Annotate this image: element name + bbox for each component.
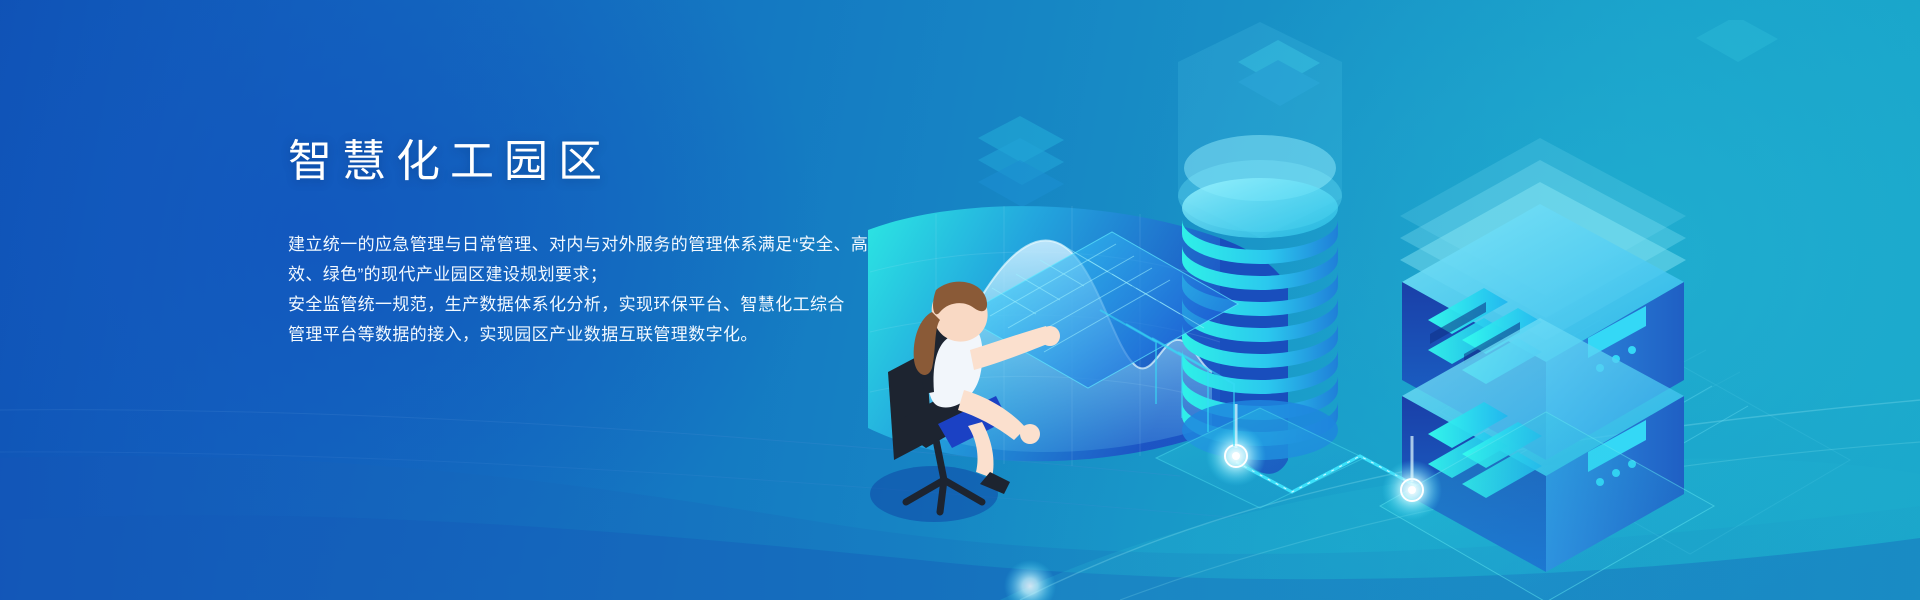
server-rack-building: [1380, 138, 1714, 600]
operator-hand: [1040, 326, 1060, 346]
floating-layer-chips: [978, 116, 1064, 207]
description-line: 安全监管统一规范，生产数据体系化分析，实现环保平台、智慧化工综合: [288, 290, 928, 320]
hero-banner: 智慧化工园区 建立统一的应急管理与日常管理、对内与对外服务的管理体系满足“安全、…: [0, 0, 1920, 600]
description-line: 建立统一的应急管理与日常管理、对内与对外服务的管理体系满足“安全、高: [288, 230, 928, 260]
description-line: 效、绿色”的现代产业园区建设规划要求；: [288, 260, 928, 290]
isometric-smart-park-illustration: [840, 20, 1920, 600]
hero-description: 建立统一的应急管理与日常管理、对内与对外服务的管理体系满足“安全、高 效、绿色”…: [288, 230, 928, 350]
description-line: 管理平台等数据的接入，实现园区产业数据互联管理数字化。: [288, 320, 928, 350]
page-title: 智慧化工园区: [288, 140, 928, 184]
hero-copy: 智慧化工园区 建立统一的应急管理与日常管理、对内与对外服务的管理体系满足“安全、…: [288, 140, 928, 350]
